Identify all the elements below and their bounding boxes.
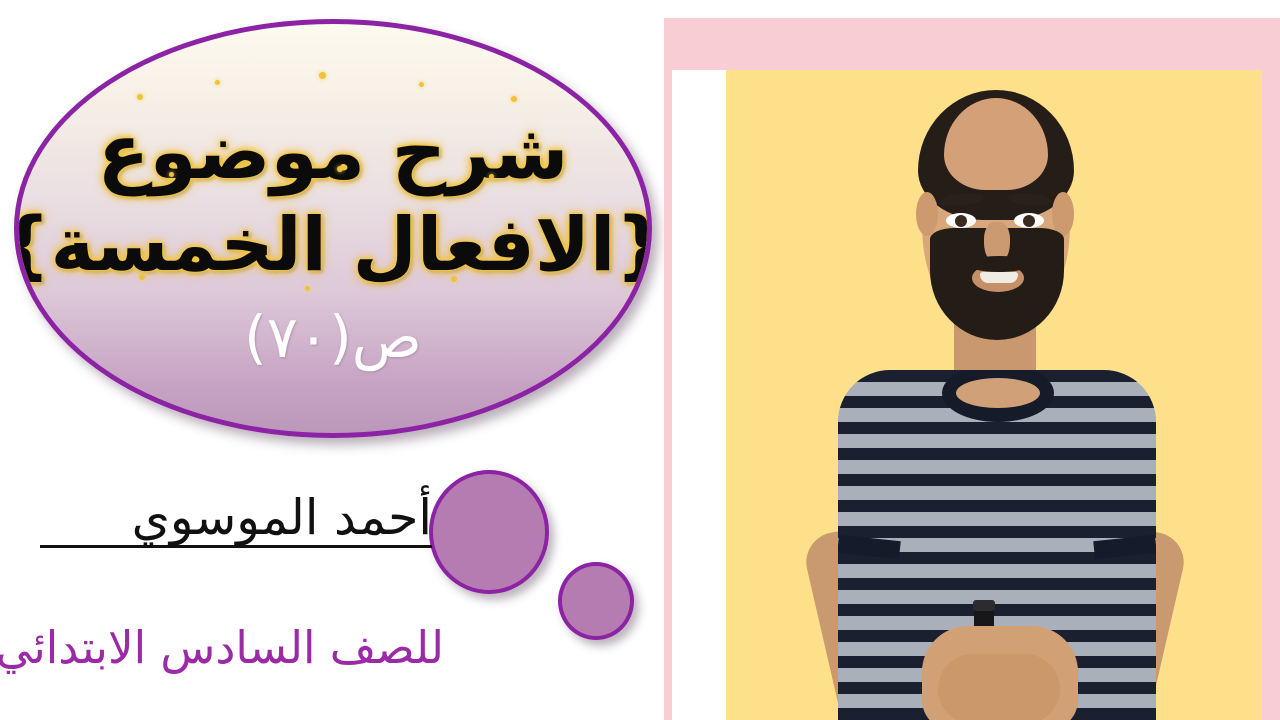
sparkle-icon (419, 82, 424, 87)
hand-shading (938, 654, 1060, 720)
eye-right (1014, 213, 1044, 228)
ear-left (916, 192, 938, 236)
presenter-name-block: أحمد الموسوي (40, 492, 432, 548)
video-backdrop (726, 70, 1262, 720)
video-frame (664, 18, 1280, 720)
page-reference: ص(٧٠) (244, 308, 422, 366)
sparkle-icon (511, 96, 517, 102)
sparkle-icon (319, 72, 326, 79)
moustache (966, 256, 1032, 272)
title-ellipse-badge: شرح موضوع {الافعال الخمسة} ص(٧٠) (14, 19, 652, 438)
pupil-right (1023, 215, 1035, 227)
left-title-panel: شرح موضوع {الافعال الخمسة} ص(٧٠) أحمد ال… (0, 0, 664, 720)
title-line-primary: شرح موضوع (98, 114, 569, 190)
decoration-circle-small (558, 562, 634, 640)
sparkle-icon (137, 94, 143, 100)
decoration-circle-large (429, 470, 549, 594)
eye-left (946, 213, 976, 228)
marker-cap (973, 600, 995, 611)
presenter-figure (726, 70, 1262, 720)
ear-right (1052, 192, 1074, 236)
presenter-name: أحمد الموسوي (132, 492, 432, 544)
grade-label: للصف السادس الابتدائي (34, 624, 444, 671)
sparkle-icon (215, 80, 220, 85)
title-line-secondary: {الافعال الخمسة} (14, 208, 652, 282)
video-white-margin (672, 70, 734, 720)
mouth (980, 272, 1018, 283)
pupil-left (955, 215, 967, 227)
slide-canvas: شرح موضوع {الافعال الخمسة} ص(٧٠) أحمد ال… (0, 0, 1280, 720)
